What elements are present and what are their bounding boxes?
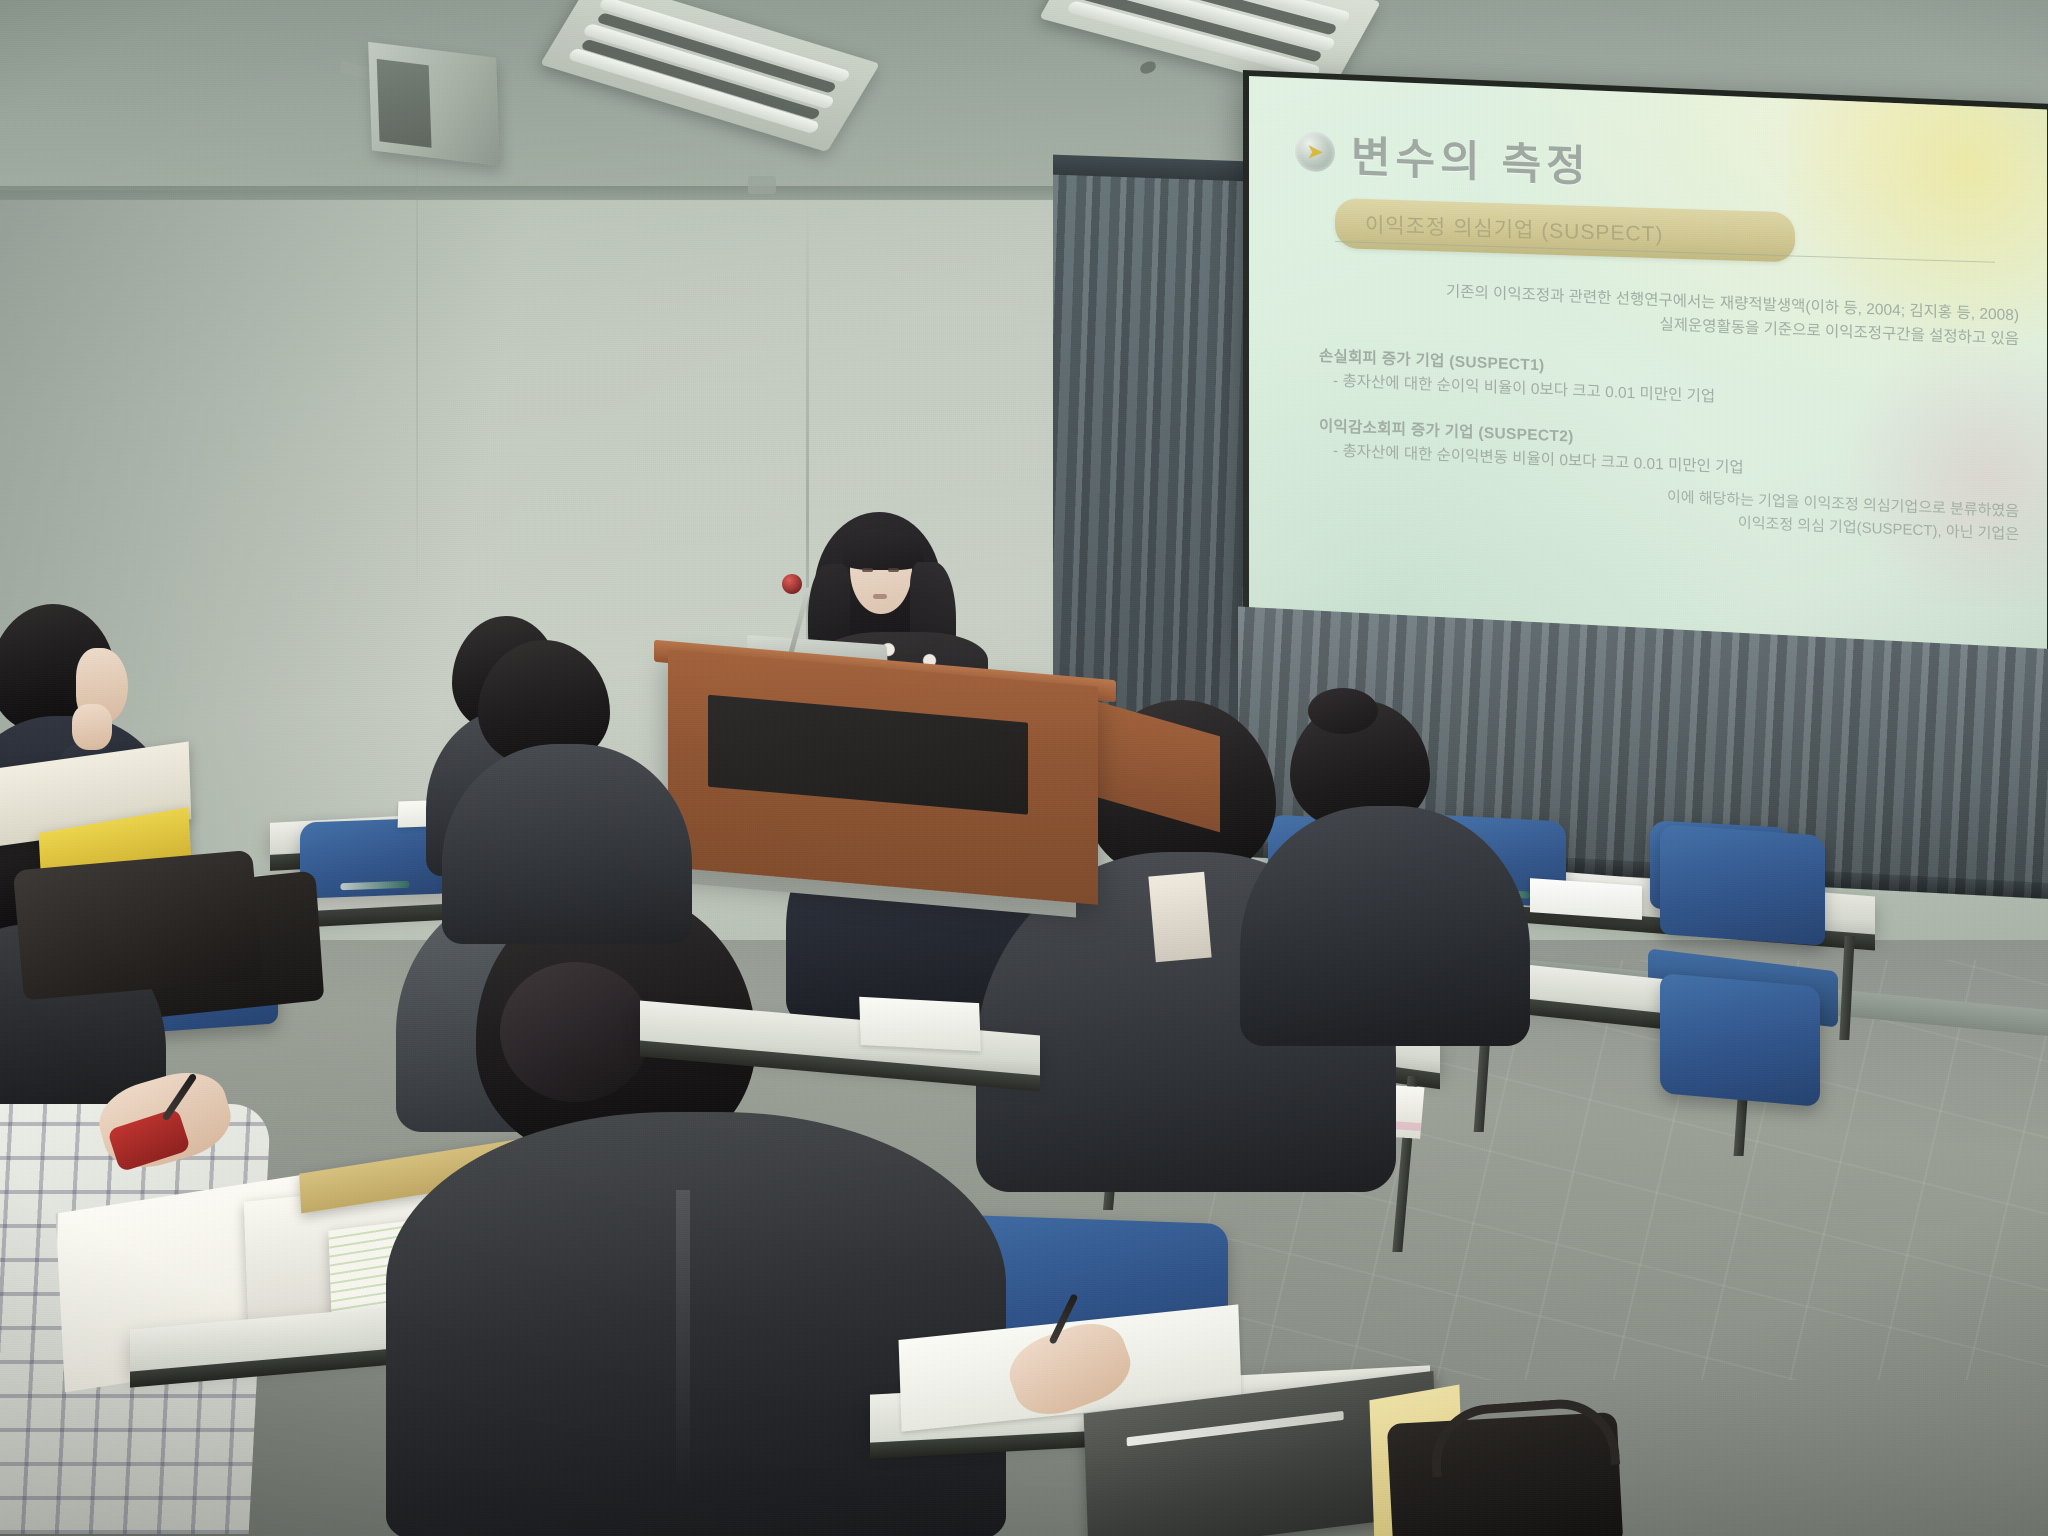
booklet-title-text [1127,1411,1344,1447]
seminar-room-photo: ➤ 변수의 측정 이익조정 의심기업 (SUSPECT) 기존의 이익조정과 관… [0,0,2048,1536]
screen-vignette [1249,76,2047,669]
vest-seam [676,1190,690,1490]
attendee-ponytail-right [1260,700,1510,1030]
attendee-front-of-podium [462,640,692,900]
ceiling-vent [748,176,776,194]
wooden-lectern [668,649,1098,905]
blue-lecture-chair[interactable] [1660,973,1820,1107]
lectern-front-panel [708,695,1028,815]
projection-screen: ➤ 변수의 측정 이익조정 의심기업 (SUSPECT) 기존의 이익조정과 관… [1249,76,2047,669]
wall-speaker [368,42,500,166]
quilted-vest [386,1112,1006,1536]
handout-paper [859,997,981,1051]
blue-lecture-chair[interactable] [1660,824,1825,946]
microphone-head [782,574,802,594]
shirt-collar [1148,872,1211,963]
black-handbag [13,850,263,1000]
